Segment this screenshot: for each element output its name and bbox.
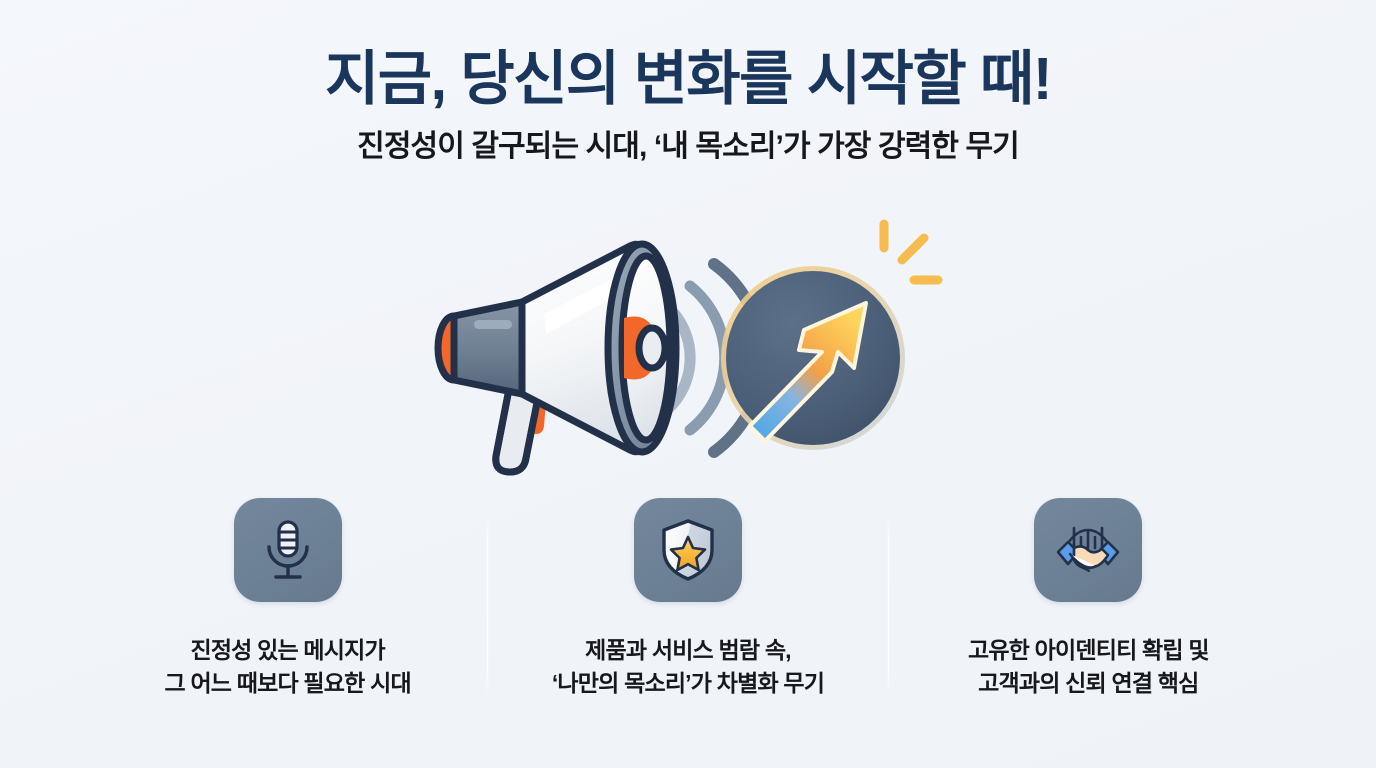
microphone-icon-tile[interactable] <box>234 498 342 602</box>
hero-illustration <box>0 198 1376 488</box>
feature-caption: 고유한 아이덴티티 확립 및 고객과의 신뢰 연결 핵심 <box>968 634 1209 699</box>
handshake-icon <box>1054 520 1122 580</box>
shield-star-icon-tile[interactable] <box>634 498 742 602</box>
feature-column-identity-trust: 고유한 아이덴티티 확립 및 고객과의 신뢰 연결 핵심 <box>889 498 1288 699</box>
feature-caption: 제품과 서비스 범람 속, ‘나만의 목소리’가 차별화 무기 <box>552 634 824 699</box>
feature-columns: 진정성 있는 메시지가 그 어느 때보다 필요한 시대 <box>88 498 1288 699</box>
handshake-icon-tile[interactable] <box>1034 498 1142 602</box>
feature-column-own-voice: 제품과 서비스 범람 속, ‘나만의 목소리’가 차별화 무기 <box>488 498 887 699</box>
page-title: 지금, 당신의 변화를 시작할 때! <box>0 48 1376 112</box>
slide-canvas: 지금, 당신의 변화를 시작할 때! 진정성이 갈구되는 시대, ‘내 목소리’… <box>0 0 1376 768</box>
page-subtitle: 진정성이 갈구되는 시대, ‘내 목소리’가 가장 강력한 무기 <box>0 128 1376 166</box>
megaphone-growth-arrow-icon <box>418 198 958 488</box>
feature-column-authentic-message: 진정성 있는 메시지가 그 어느 때보다 필요한 시대 <box>88 498 487 699</box>
sparkle-rays-icon <box>884 224 938 280</box>
growth-arrow-badge <box>721 224 938 450</box>
microphone-icon <box>261 519 315 581</box>
slide-header: 지금, 당신의 변화를 시작할 때! 진정성이 갈구되는 시대, ‘내 목소리’… <box>0 48 1376 165</box>
shield-star-icon <box>659 518 717 582</box>
feature-caption: 진정성 있는 메시지가 그 어느 때보다 필요한 시대 <box>165 634 411 699</box>
megaphone-icon <box>438 244 676 472</box>
